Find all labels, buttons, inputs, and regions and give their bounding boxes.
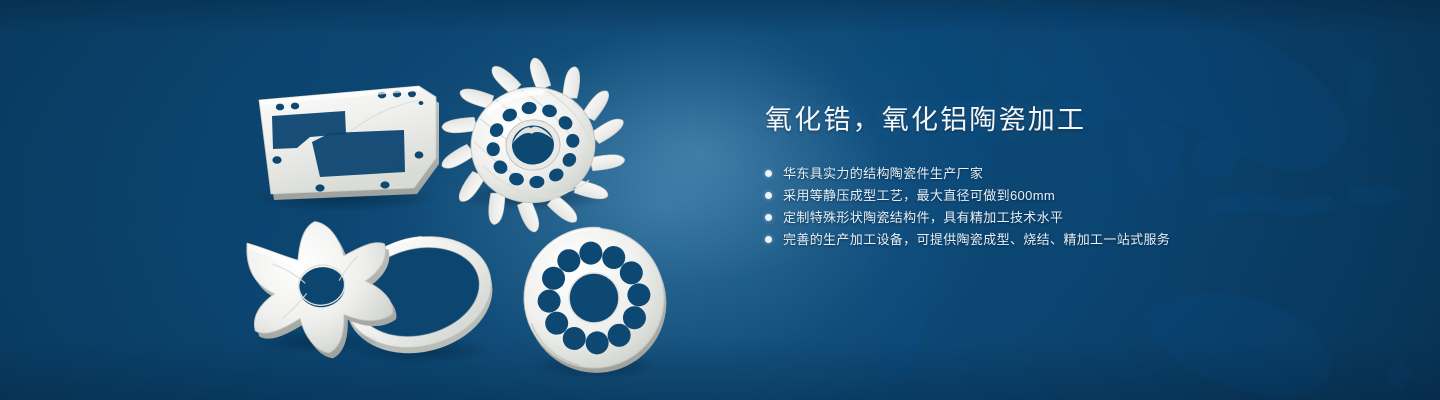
bullet-dot-icon <box>765 214 772 221</box>
promo-banner: 氧化锆，氧化铝陶瓷加工 华东具实力的结构陶瓷件生产厂家 采用等静压成型工艺，最大… <box>0 0 1440 400</box>
ceramic-products-svg <box>0 0 760 400</box>
bullet-dot-icon <box>765 170 772 177</box>
list-item: 华东具实力的结构陶瓷件生产厂家 <box>765 163 1385 185</box>
ceramic-products-group <box>0 0 760 400</box>
page-title: 氧化锆，氧化铝陶瓷加工 <box>765 104 1385 138</box>
bullet-dot-icon <box>765 192 772 199</box>
list-item: 定制特殊形状陶瓷结构件，具有精加工技术水平 <box>765 207 1385 229</box>
bullet-dot-icon <box>765 236 772 243</box>
list-item-label: 定制特殊形状陶瓷结构件，具有精加工技术水平 <box>783 207 1063 229</box>
ceramic-perforated-disc <box>519 223 671 379</box>
list-item-label: 完善的生产加工设备，可提供陶瓷成型、烧结、精加工一站式服务 <box>783 229 1170 251</box>
list-item-label: 采用等静压成型工艺，最大直径可做到600mm <box>783 185 1055 207</box>
ceramic-machined-plate <box>250 86 440 212</box>
feature-list: 华东具实力的结构陶瓷件生产厂家 采用等静压成型工艺，最大直径可做到600mm 定… <box>765 163 1385 251</box>
list-item: 采用等静压成型工艺，最大直径可做到600mm <box>765 185 1385 207</box>
list-item: 完善的生产加工设备，可提供陶瓷成型、烧结、精加工一站式服务 <box>765 229 1385 251</box>
ceramic-vaned-impeller <box>432 49 634 242</box>
list-item-label: 华东具实力的结构陶瓷件生产厂家 <box>783 163 983 185</box>
banner-copy: 氧化锆，氧化铝陶瓷加工 华东具实力的结构陶瓷件生产厂家 采用等静压成型工艺，最大… <box>765 104 1385 251</box>
